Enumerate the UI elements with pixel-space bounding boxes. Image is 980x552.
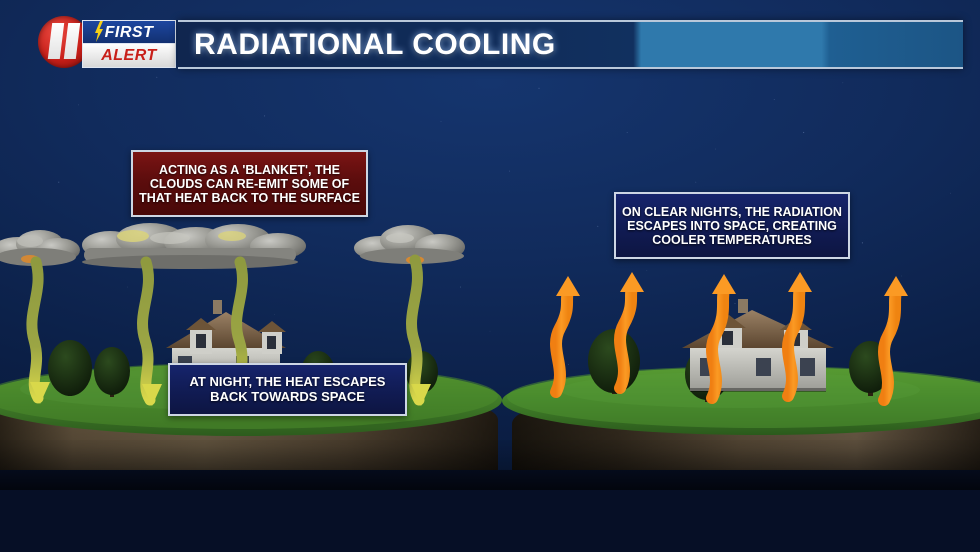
arrowhead-up [884,276,908,296]
tree [48,340,92,396]
lightning-bolt-icon [94,21,104,42]
cloud [354,225,465,264]
callout-night-heat-escape: AT NIGHT, THE HEAT ESCAPES BACK TOWARDS … [168,363,407,416]
arrowhead-up [556,276,580,296]
weather-graphic: FIRST ALERT RADIATIONAL COOLING ACTING A… [0,0,980,552]
station-logo: FIRST ALERT [38,14,174,70]
heat-arrow-reemitted [412,260,419,400]
cloud [82,223,306,269]
heat-arrow-reemitted [32,262,38,398]
bottom-vignette [0,440,980,490]
callout-clear-nights: ON CLEAR NIGHTS, THE RADIATION ESCAPES I… [614,192,850,259]
title-bar: RADIATIONAL COOLING [178,20,963,69]
arrowhead-up [620,272,644,292]
heat-arrow-reemitted [143,262,150,400]
page-title: RADIATIONAL COOLING [178,28,556,62]
scene-illustration [0,0,980,552]
callout-clouds-blanket: ACTING AS A 'BLANKET', THE CLOUDS CAN RE… [131,150,368,217]
arrowhead-up [788,272,812,292]
arrowhead-up [712,274,736,294]
cloud-group-left [0,223,465,269]
logo-alert-label: ALERT [82,43,176,68]
house-right [682,299,834,392]
radiation-arrowhead-group-right [556,272,908,296]
radiation-arrow [556,292,568,392]
